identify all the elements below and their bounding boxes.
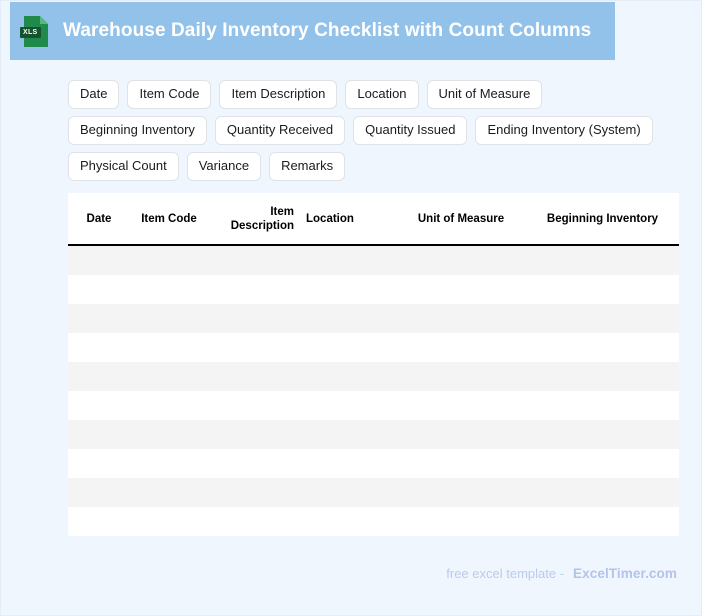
page-title: Warehouse Daily Inventory Checklist with…: [63, 20, 591, 42]
table-cell[interactable]: [68, 333, 130, 362]
table-row[interactable]: [68, 304, 679, 333]
table-cell[interactable]: [208, 333, 300, 362]
table-cell[interactable]: [526, 507, 679, 536]
table-cell[interactable]: [300, 478, 396, 507]
column-chip-item-description[interactable]: Item Description: [219, 80, 337, 109]
preview-table-container: Date Item Code Item Description Location…: [68, 193, 679, 536]
column-chip-physical-count[interactable]: Physical Count: [68, 152, 179, 181]
table-header-location[interactable]: Location: [300, 193, 396, 245]
table-cell[interactable]: [130, 333, 208, 362]
table-cell[interactable]: [526, 449, 679, 478]
table-cell[interactable]: [208, 391, 300, 420]
table-cell[interactable]: [130, 362, 208, 391]
table-cell[interactable]: [130, 245, 208, 275]
table-cell[interactable]: [68, 391, 130, 420]
table-cell[interactable]: [208, 275, 300, 304]
table-head: Date Item Code Item Description Location…: [68, 193, 679, 245]
table-cell[interactable]: [208, 420, 300, 449]
table-cell[interactable]: [396, 420, 526, 449]
column-chip-quantity-received[interactable]: Quantity Received: [215, 116, 345, 145]
table-cell[interactable]: [68, 420, 130, 449]
table-cell[interactable]: [396, 362, 526, 391]
table-cell[interactable]: [68, 362, 130, 391]
column-chip-unit-of-measure[interactable]: Unit of Measure: [427, 80, 543, 109]
table-cell[interactable]: [526, 362, 679, 391]
table-row[interactable]: [68, 507, 679, 536]
table-cell[interactable]: [396, 275, 526, 304]
table-cell[interactable]: [300, 275, 396, 304]
table-cell[interactable]: [130, 449, 208, 478]
table-cell[interactable]: [68, 478, 130, 507]
table-cell[interactable]: [208, 362, 300, 391]
page-header: XLS Warehouse Daily Inventory Checklist …: [10, 2, 615, 60]
table-row[interactable]: [68, 362, 679, 391]
table-cell[interactable]: [396, 391, 526, 420]
table-row[interactable]: [68, 449, 679, 478]
footer-attribution: free excel template - ExcelTimer.com: [446, 566, 677, 581]
table-cell[interactable]: [208, 478, 300, 507]
column-chip-beginning-inventory[interactable]: Beginning Inventory: [68, 116, 207, 145]
table-cell[interactable]: [396, 507, 526, 536]
table-cell[interactable]: [396, 449, 526, 478]
footer-brand[interactable]: ExcelTimer.com: [573, 566, 677, 581]
table-cell[interactable]: [68, 245, 130, 275]
table-cell[interactable]: [396, 304, 526, 333]
table-cell[interactable]: [526, 245, 679, 275]
xls-icon-label: XLS: [20, 27, 41, 38]
column-chip-location[interactable]: Location: [345, 80, 418, 109]
table-cell[interactable]: [300, 391, 396, 420]
column-chip-quantity-issued[interactable]: Quantity Issued: [353, 116, 467, 145]
table-header-beginning-inventory[interactable]: Beginning Inventory: [526, 193, 679, 245]
table-cell[interactable]: [300, 507, 396, 536]
table-row[interactable]: [68, 245, 679, 275]
table-cell[interactable]: [208, 449, 300, 478]
table-cell[interactable]: [300, 362, 396, 391]
table-header-item-description[interactable]: Item Description: [208, 193, 300, 245]
column-chip-remarks[interactable]: Remarks: [269, 152, 345, 181]
column-chip-ending-inventory-system[interactable]: Ending Inventory (System): [475, 116, 652, 145]
column-chip-variance[interactable]: Variance: [187, 152, 261, 181]
table-cell[interactable]: [300, 304, 396, 333]
table-cell[interactable]: [396, 245, 526, 275]
table-cell[interactable]: [396, 333, 526, 362]
table-row[interactable]: [68, 391, 679, 420]
table-cell[interactable]: [130, 275, 208, 304]
table-row[interactable]: [68, 420, 679, 449]
table-cell[interactable]: [130, 304, 208, 333]
table-cell[interactable]: [526, 391, 679, 420]
table-cell[interactable]: [300, 449, 396, 478]
table-row[interactable]: [68, 333, 679, 362]
column-chip-list: Date Item Code Item Description Location…: [68, 80, 688, 181]
table-cell[interactable]: [300, 333, 396, 362]
table-cell[interactable]: [526, 304, 679, 333]
table-cell[interactable]: [208, 304, 300, 333]
table-cell[interactable]: [526, 333, 679, 362]
table-cell[interactable]: [130, 507, 208, 536]
table-row[interactable]: [68, 478, 679, 507]
table-header-date[interactable]: Date: [68, 193, 130, 245]
column-chip-item-code[interactable]: Item Code: [127, 80, 211, 109]
table-cell[interactable]: [526, 275, 679, 304]
table-cell[interactable]: [68, 304, 130, 333]
table-row[interactable]: [68, 275, 679, 304]
table-cell[interactable]: [130, 391, 208, 420]
table-cell[interactable]: [396, 478, 526, 507]
table-body: [68, 245, 679, 536]
template-page: XLS Warehouse Daily Inventory Checklist …: [0, 0, 702, 616]
footer-text: free excel template -: [446, 566, 564, 581]
table-cell[interactable]: [526, 478, 679, 507]
table-header-unit-of-measure[interactable]: Unit of Measure: [396, 193, 526, 245]
table-cell[interactable]: [130, 420, 208, 449]
table-cell[interactable]: [208, 507, 300, 536]
preview-table: Date Item Code Item Description Location…: [68, 193, 679, 536]
table-header-item-code[interactable]: Item Code: [130, 193, 208, 245]
column-chip-date[interactable]: Date: [68, 80, 119, 109]
table-cell[interactable]: [526, 420, 679, 449]
table-cell[interactable]: [208, 245, 300, 275]
xls-file-icon: XLS: [23, 15, 49, 48]
table-cell[interactable]: [68, 449, 130, 478]
table-cell[interactable]: [300, 245, 396, 275]
table-cell[interactable]: [130, 478, 208, 507]
table-cell[interactable]: [68, 275, 130, 304]
table-cell[interactable]: [68, 507, 130, 536]
table-cell[interactable]: [300, 420, 396, 449]
table-header-row: Date Item Code Item Description Location…: [68, 193, 679, 245]
